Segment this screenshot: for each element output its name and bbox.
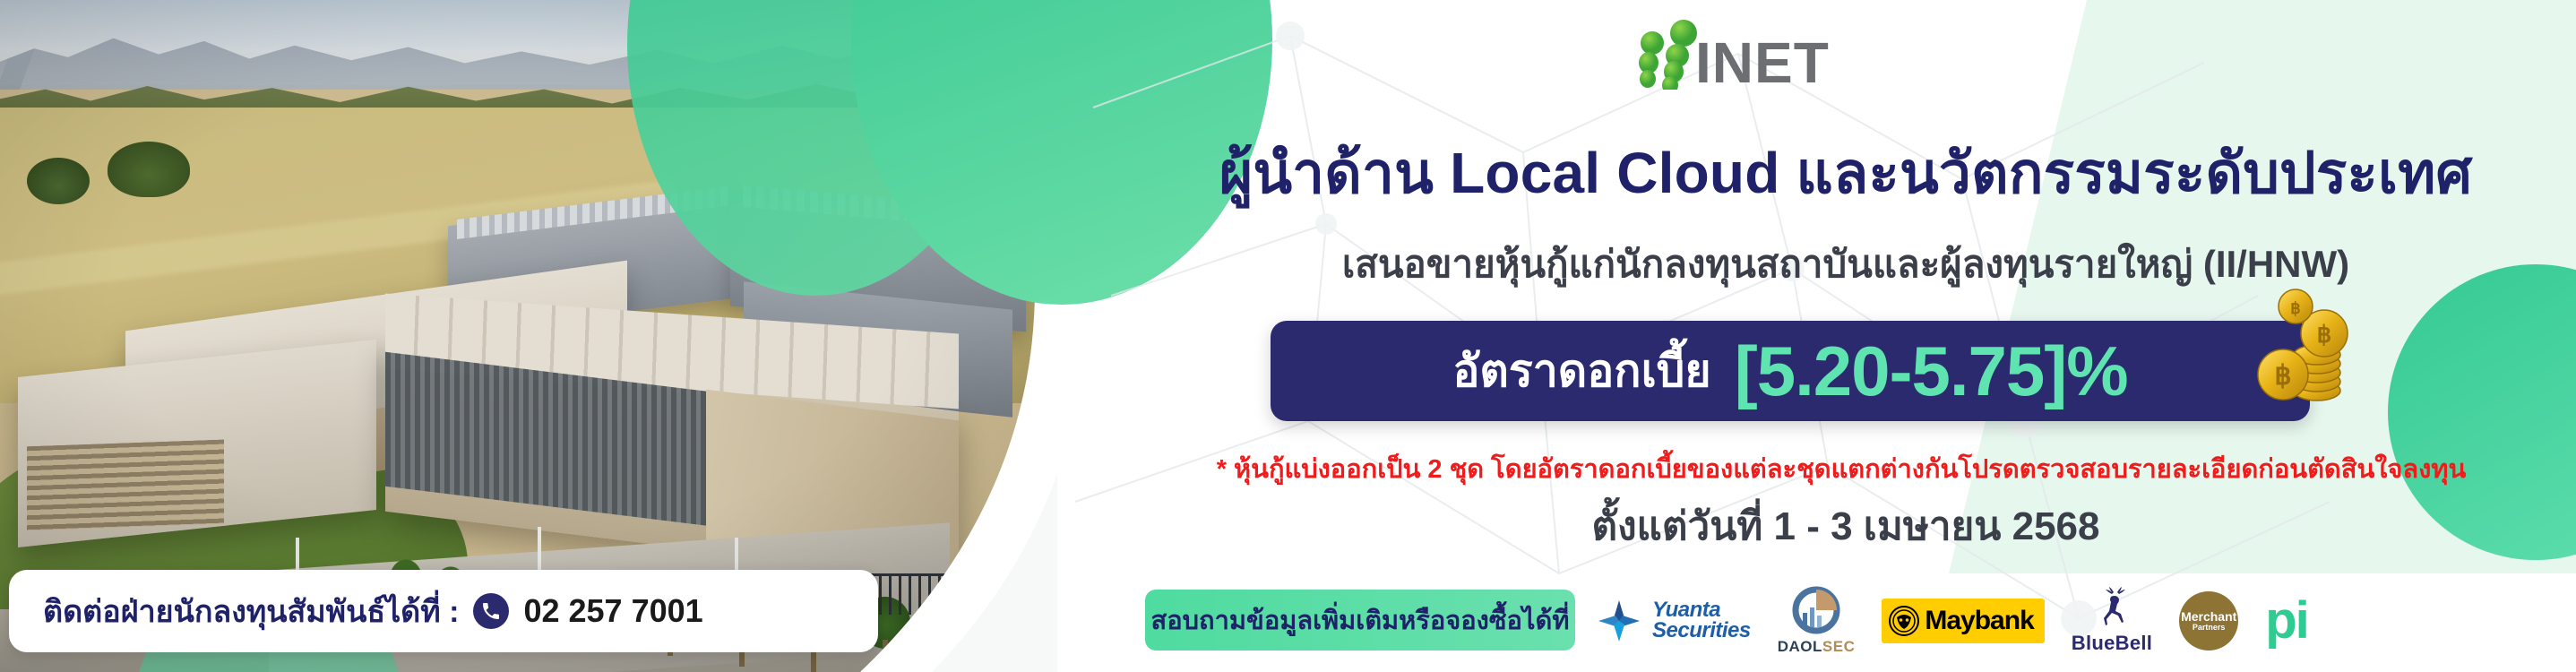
daol-mark-icon xyxy=(1790,586,1842,634)
gold-coins-icon: ฿ ฿ ฿ xyxy=(2231,281,2365,416)
interest-rate-value: [5.20-5.75]% xyxy=(1735,331,2128,412)
merchant-circle: Merchant Partners xyxy=(2179,591,2238,650)
svg-text:฿: ฿ xyxy=(2290,299,2300,317)
maybank-logo[interactable]: Maybank xyxy=(1882,599,2044,643)
pi-securities-logo[interactable]: pi xyxy=(2265,600,2308,642)
investor-relations-contact-card: ติดต่อฝ่ายนักลงทุนสัมพันธ์ได้ที่ : 02 25… xyxy=(9,570,878,652)
daol-wordmark: DAOLSEC xyxy=(1778,638,1856,656)
bluebell-wordmark: BlueBell xyxy=(2072,632,2152,655)
contact-label: ติดต่อฝ่ายนักลงทุนสัมพันธ์ได้ที่ : xyxy=(43,587,459,635)
yuanta-star-icon xyxy=(1595,597,1643,645)
svg-text:฿: ฿ xyxy=(2317,321,2332,348)
svg-text:฿: ฿ xyxy=(2274,361,2291,391)
logo-dots xyxy=(1639,20,1697,90)
page-headline: ผู้นำด้าน Local Cloud และนวัตกรรมระดับปร… xyxy=(1165,143,2527,203)
interest-rate-label: อัตราดอกเบี้ย xyxy=(1452,336,1710,407)
daol-text: DAOL xyxy=(1778,638,1822,655)
inet-logo: INET xyxy=(1613,18,1935,90)
inquiry-cta-button[interactable]: สอบถามข้อมูลเพิ่มเติมหรือจองซื้อได้ที่ xyxy=(1145,590,1575,650)
merchant-partners-logo[interactable]: Merchant Partners xyxy=(2179,591,2238,650)
merchant-line2: Partners xyxy=(2193,623,2226,632)
offering-disclaimer: * หุ้นกู้แบ่งออกเป็น 2 ชุด โดยอัตราดอกเบ… xyxy=(1124,448,2558,489)
inet-bond-offering-banner: INET ผู้นำด้าน Local Cloud และนวัตกรรมระ… xyxy=(0,0,2576,672)
yuanta-wordmark: Yuanta Securities xyxy=(1652,600,1751,642)
partner-logos-row: Yuanta Securities DAOLSEC xyxy=(1595,581,2563,661)
offering-date-line: ตั้งแต่วันที่ 1 - 3 เมษายน 2568 xyxy=(1165,495,2527,557)
interest-rate-box: อัตราดอกเบี้ย [5.20-5.75]% ฿ xyxy=(1271,321,2310,421)
daol-sec-logo[interactable]: DAOLSEC xyxy=(1778,586,1856,656)
bluebell-logo[interactable]: BlueBell xyxy=(2072,587,2152,655)
pi-wordmark: pi xyxy=(2265,600,2308,642)
maybank-tiger-icon xyxy=(1889,606,1919,636)
phone-icon xyxy=(473,593,509,629)
logo-wordmark: INET xyxy=(1695,30,1830,90)
bluebell-deer-icon xyxy=(2087,587,2137,630)
yuanta-securities-logo[interactable]: Yuanta Securities xyxy=(1595,597,1751,645)
maybank-wordmark: Maybank xyxy=(1925,606,2033,636)
merchant-line1: Merchant xyxy=(2181,610,2236,624)
sec-text: SEC xyxy=(1822,638,1855,655)
inquiry-cta-label: สอบถามข้อมูลเพิ่มเติมหรือจองซื้อได้ที่ xyxy=(1151,599,1570,641)
contact-phone-number: 02 257 7001 xyxy=(523,592,702,630)
yuanta-line2: Securities xyxy=(1652,621,1751,642)
